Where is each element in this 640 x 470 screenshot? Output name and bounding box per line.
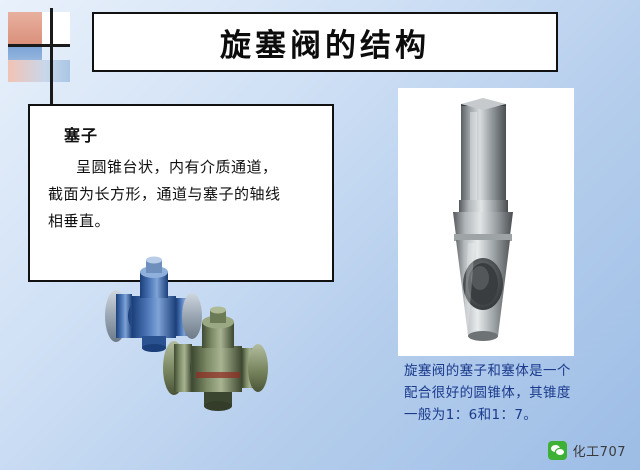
panel-body-line-3: 相垂直。	[48, 208, 318, 235]
slide-canvas: 旋塞阀的结构 塞子 呈圆锥台状，内有介质通道， 截面为长方形，通道与塞子的轴线 …	[0, 0, 640, 470]
decoration-red-block	[8, 12, 42, 46]
panel-body: 呈圆锥台状，内有介质通道， 截面为长方形，通道与塞子的轴线 相垂直。	[48, 154, 318, 235]
green-plug-valve-photo	[156, 306, 280, 418]
tapered-plug-photo	[398, 88, 574, 356]
right-caption-line-2: 配合很好的圆锥体，其锥度	[404, 382, 596, 404]
decoration-horizontal-rule	[8, 44, 70, 47]
right-caption-line-3: 一般为1：6和1：7。	[404, 404, 596, 426]
right-caption-line-1: 旋塞阀的塞子和塞体是一个	[404, 360, 596, 382]
decoration-white-block	[42, 12, 70, 46]
footer-label: 化工707	[573, 441, 626, 460]
decoration-vertical-rule	[50, 8, 53, 113]
footer-watermark: 化工707	[548, 441, 626, 460]
decoration-gradient-bar	[8, 60, 70, 82]
panel-heading: 塞子	[64, 122, 318, 146]
wechat-icon	[548, 441, 567, 460]
slide-title-box: 旋塞阀的结构	[92, 12, 558, 72]
right-caption: 旋塞阀的塞子和塞体是一个 配合很好的圆锥体，其锥度 一般为1：6和1：7。	[404, 360, 596, 426]
page-title: 旋塞阀的结构	[220, 20, 430, 65]
panel-body-line-2: 截面为长方形，通道与塞子的轴线	[48, 181, 318, 208]
panel-body-line-1: 呈圆锥台状，内有介质通道，	[48, 154, 318, 181]
